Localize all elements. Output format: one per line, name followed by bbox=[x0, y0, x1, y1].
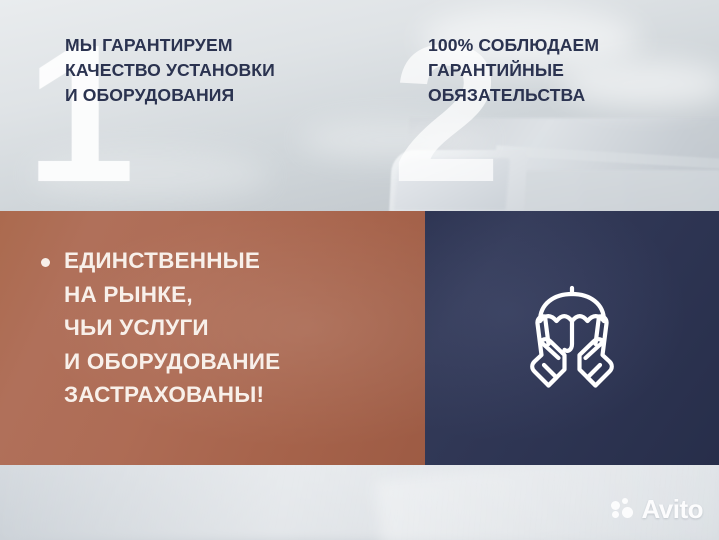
avito-brand-label: Avito bbox=[641, 496, 703, 522]
benefit-headline-1: МЫ ГАРАНТИРУЕМ КАЧЕСТВО УСТАНОВКИ И ОБОР… bbox=[65, 33, 355, 108]
bullet-point-icon bbox=[41, 258, 50, 267]
avito-dots-logo bbox=[611, 498, 635, 520]
highlight-text: ЕДИНСТВЕННЫЕ НА РЫНКЕ, ЧЬИ УСЛУГИ И ОБОР… bbox=[64, 244, 404, 412]
promo-banner: 1 2 МЫ ГАРАНТИРУЕМ КАЧЕСТВО УСТАНОВКИ И … bbox=[0, 0, 719, 540]
umbrella-in-hands-icon bbox=[507, 272, 637, 397]
avito-watermark: Avito bbox=[611, 494, 703, 524]
benefit-headline-2: 100% СОБЛЮДАЕМ ГАРАНТИЙНЫЕ ОБЯЗАТЕЛЬСТВА bbox=[428, 33, 678, 108]
